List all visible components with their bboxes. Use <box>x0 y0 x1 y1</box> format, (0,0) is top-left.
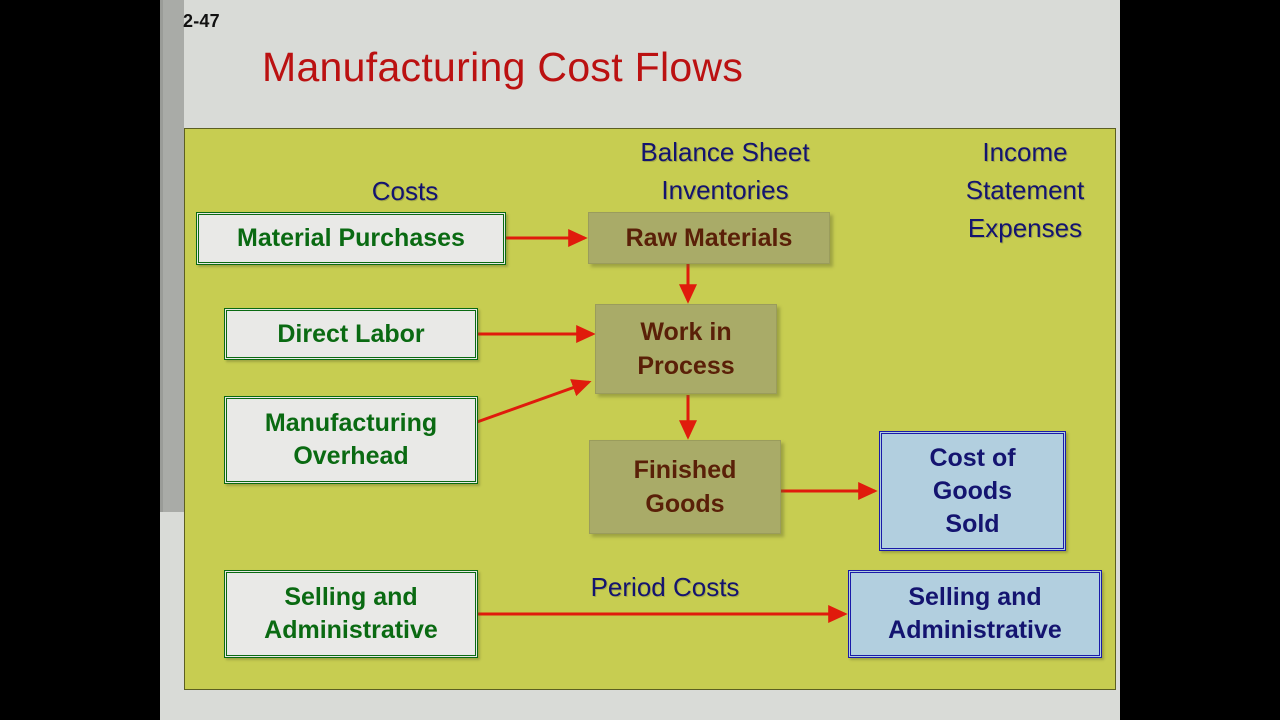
box-cost-of-goods-sold-line3: Sold <box>945 508 999 541</box>
manufacturing-cost-flow-diagram: Costs Balance Sheet Inventories Income S… <box>184 128 1116 690</box>
box-raw-materials-label: Raw Materials <box>626 221 793 255</box>
slide-number: 2-47 <box>183 11 220 32</box>
box-raw-materials[interactable]: Raw Materials <box>588 212 830 264</box>
box-work-in-process-line2: Process <box>637 349 734 383</box>
box-finished-goods[interactable]: Finished Goods <box>589 440 781 534</box>
column-header-balance-sheet: Balance Sheet Inventories <box>565 133 885 209</box>
box-material-purchases[interactable]: Material Purchases <box>196 212 506 265</box>
box-selling-administrative-expense[interactable]: Selling and Administrative <box>848 570 1102 658</box>
box-selling-administrative-cost-line2: Administrative <box>264 614 438 647</box>
box-work-in-process[interactable]: Work in Process <box>595 304 777 394</box>
box-selling-administrative-expense-line1: Selling and <box>908 581 1041 614</box>
column-header-income-statement: Income Statement Expenses <box>885 133 1165 247</box>
box-cost-of-goods-sold[interactable]: Cost of Goods Sold <box>879 431 1066 551</box>
box-cost-of-goods-sold-line2: Goods <box>933 475 1012 508</box>
left-edge-sliver <box>160 0 163 512</box>
column-header-income-line1: Income <box>885 133 1165 171</box>
column-header-balance-sheet-line1: Balance Sheet <box>565 133 885 171</box>
column-header-costs: Costs <box>290 172 520 210</box>
box-finished-goods-line2: Goods <box>645 487 724 521</box>
arrow-overhead-to-wip <box>477 382 589 422</box>
box-selling-administrative-cost[interactable]: Selling and Administrative <box>224 570 478 658</box>
box-material-purchases-label: Material Purchases <box>237 222 465 255</box>
flow-label-period-costs: Period Costs <box>540 572 790 603</box>
box-manufacturing-overhead-line2: Overhead <box>293 440 408 473</box>
box-manufacturing-overhead-line1: Manufacturing <box>265 407 437 440</box>
box-finished-goods-line1: Finished <box>634 453 737 487</box>
slide-stage: 2-47 Manufacturing Cost Flows Costs Bala… <box>0 0 1280 720</box>
page-title: Manufacturing Cost Flows <box>262 44 743 91</box>
box-selling-administrative-cost-line1: Selling and <box>284 581 417 614</box>
box-direct-labor[interactable]: Direct Labor <box>224 308 478 360</box>
box-work-in-process-line1: Work in <box>640 315 731 349</box>
box-selling-administrative-expense-line2: Administrative <box>888 614 1062 647</box>
column-header-balance-sheet-line2: Inventories <box>565 171 885 209</box>
column-header-income-line2: Statement <box>885 171 1165 209</box>
column-header-income-line3: Expenses <box>885 209 1165 247</box>
box-direct-labor-label: Direct Labor <box>277 318 424 351</box>
box-cost-of-goods-sold-line1: Cost of <box>929 442 1015 475</box>
left-gray-strip <box>160 0 184 512</box>
box-manufacturing-overhead[interactable]: Manufacturing Overhead <box>224 396 478 484</box>
